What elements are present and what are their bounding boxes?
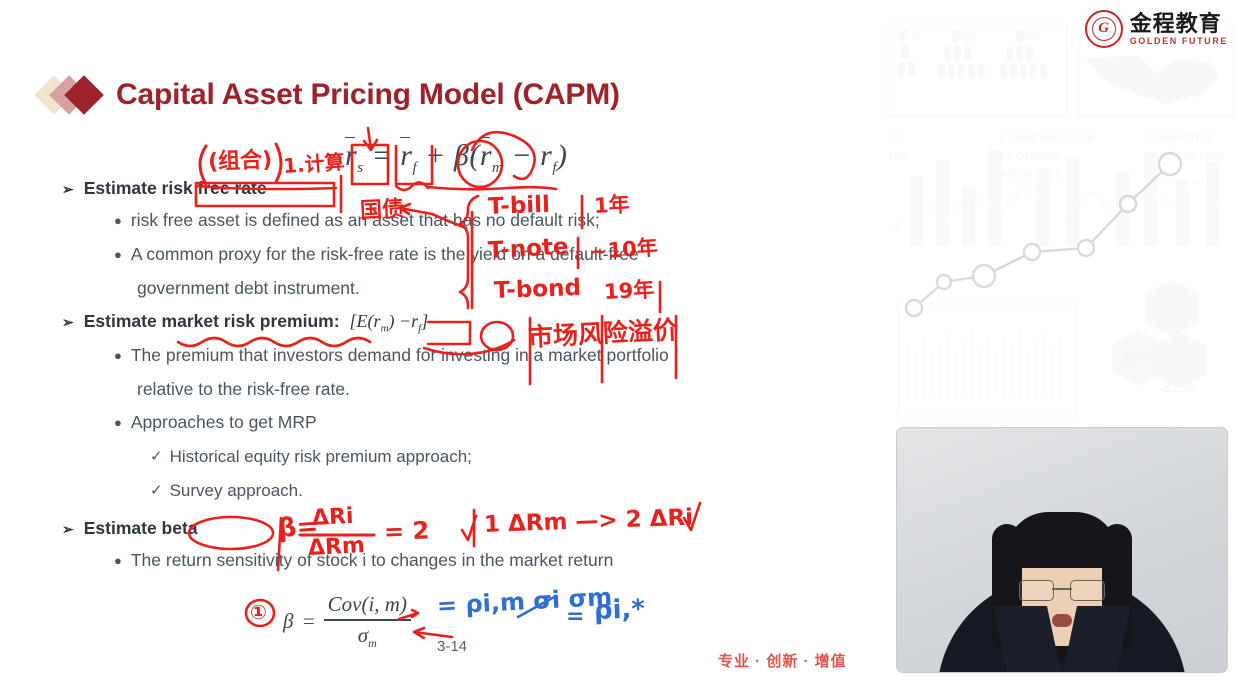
eq-minus: − bbox=[511, 139, 532, 172]
svg-text:COMPUTER: COMPUTER bbox=[1148, 133, 1211, 145]
brand-seal-icon bbox=[1085, 10, 1123, 48]
bullet-text: The premium that investors demand for in… bbox=[131, 339, 669, 372]
annotation-rho-equals: = bbox=[566, 604, 584, 629]
bullet-text-continued: relative to the risk-free rate. bbox=[137, 373, 852, 406]
bullet-estimate-beta: ➢ Estimate beta bbox=[62, 518, 852, 540]
brand-slogan: 专业 · 创新 · 增值 bbox=[718, 650, 847, 671]
beta-numerator: Cov(i, m) bbox=[324, 592, 411, 617]
bullet-text: Estimate risk free rate bbox=[84, 178, 267, 199]
bullet-text: risk free asset is defined as an asset t… bbox=[131, 204, 600, 237]
arrow-bullet-icon: ➢ bbox=[62, 518, 74, 540]
page-title: Capital Asset Pricing Model (CAPM) bbox=[116, 78, 620, 112]
check-bullet-icon: ✓ bbox=[150, 474, 163, 508]
bullet-text: A common proxy for the risk-free rate is… bbox=[131, 238, 639, 271]
dot-bullet-icon: ● bbox=[114, 544, 122, 577]
eq-plus: + bbox=[425, 139, 446, 172]
person-mouth bbox=[1052, 614, 1072, 627]
capm-equation: rs = rf + β(rm − rf) bbox=[345, 139, 567, 177]
annotation-zuhe: (组合) bbox=[207, 142, 272, 176]
list-item: ● Approaches to get MRP bbox=[114, 406, 852, 439]
eq-rf: r bbox=[400, 139, 412, 172]
list-item: ✓ Survey approach. bbox=[150, 474, 852, 508]
list-item: ● The premium that investors demand for … bbox=[114, 339, 852, 372]
eq-rs: r bbox=[345, 139, 357, 172]
svg-text:TER: TER bbox=[888, 152, 909, 163]
arrow-bullet-icon: ➢ bbox=[62, 178, 74, 200]
bullet-estimate-risk-free-rate: ➢ Estimate risk free rate bbox=[62, 178, 852, 200]
brand-logo: 金程教育 GOLDEN FUTURE bbox=[1085, 10, 1228, 48]
bullet-text: Survey approach. bbox=[170, 474, 303, 508]
annotation-jisuan: 1.计算 bbox=[282, 146, 345, 179]
beta-denominator: σm bbox=[354, 623, 381, 651]
svg-text:PROTOCOL: PROTOCOL bbox=[1000, 151, 1062, 163]
beta-formula: β = Cov(i, m) σm bbox=[283, 592, 411, 651]
list-item: ● The return sensitivity of stock i to c… bbox=[114, 544, 852, 577]
eq-beta: β bbox=[454, 139, 469, 172]
instructor-video-panel[interactable] bbox=[897, 428, 1227, 672]
bullet-text: The return sensitivity of stock i to cha… bbox=[131, 544, 613, 577]
svg-text:ES: ES bbox=[888, 134, 902, 145]
slide-body: ➢ Estimate risk free rate ● risk free as… bbox=[62, 178, 852, 578]
check-bullet-icon: ✓ bbox=[150, 440, 163, 474]
eq-equals: = bbox=[372, 139, 393, 172]
dot-bullet-icon: ● bbox=[114, 204, 122, 237]
beta-equals: = bbox=[301, 609, 315, 634]
dot-bullet-icon: ● bbox=[114, 238, 122, 271]
person-hair-top bbox=[1006, 512, 1118, 568]
svg-text:47%: 47% bbox=[896, 29, 920, 43]
brand-name-cn: 金程教育 bbox=[1130, 13, 1228, 35]
annotation-circle-one: ① bbox=[250, 600, 267, 624]
bullet-text: Estimate market risk premium: bbox=[84, 311, 340, 332]
list-item: ✓ Historical equity risk premium approac… bbox=[150, 440, 852, 474]
bullet-text: Historical equity risk premium approach; bbox=[170, 440, 472, 474]
slide-title-row: Capital Asset Pricing Model (CAPM) bbox=[40, 74, 620, 116]
eq-rf2: r bbox=[540, 139, 552, 172]
mrp-formula: [E(rm) −rf] bbox=[350, 311, 429, 335]
svg-text:COMMUNICATION: COMMUNICATION bbox=[1000, 133, 1095, 145]
eq-rm: r bbox=[480, 139, 492, 172]
brand-name-en: GOLDEN FUTURE bbox=[1130, 37, 1228, 46]
arrow-bullet-icon: ➢ bbox=[62, 311, 74, 333]
bullet-text: Approaches to get MRP bbox=[131, 406, 317, 439]
annotation-rho-result: ρi,* bbox=[593, 594, 645, 626]
person-glasses-icon bbox=[1019, 580, 1105, 600]
bullet-text: Estimate beta bbox=[84, 518, 198, 539]
dot-bullet-icon: ● bbox=[114, 406, 122, 439]
bullet-estimate-market-risk-premium: ➢ Estimate market risk premium: [E(rm) −… bbox=[62, 311, 852, 335]
diamond-decoration-icon bbox=[40, 74, 106, 116]
dot-bullet-icon: ● bbox=[114, 339, 122, 372]
list-item: ● risk free asset is defined as an asset… bbox=[114, 204, 852, 237]
background-infographic: 47% 73% 89% ES TER bbox=[880, 0, 1242, 430]
bullet-text-continued: government debt instrument. bbox=[137, 272, 852, 305]
list-item: ● A common proxy for the risk-free rate … bbox=[114, 238, 852, 271]
page-number: 3-14 bbox=[437, 638, 467, 655]
svg-text:22%: 22% bbox=[1162, 377, 1196, 396]
annotation-rho-expression: = ρi,m σi σm bbox=[436, 583, 613, 620]
beta-symbol: β bbox=[283, 609, 293, 634]
svg-text:INTERFACE: INTERFACE bbox=[1000, 169, 1062, 181]
svg-text:40%: 40% bbox=[1120, 349, 1154, 368]
